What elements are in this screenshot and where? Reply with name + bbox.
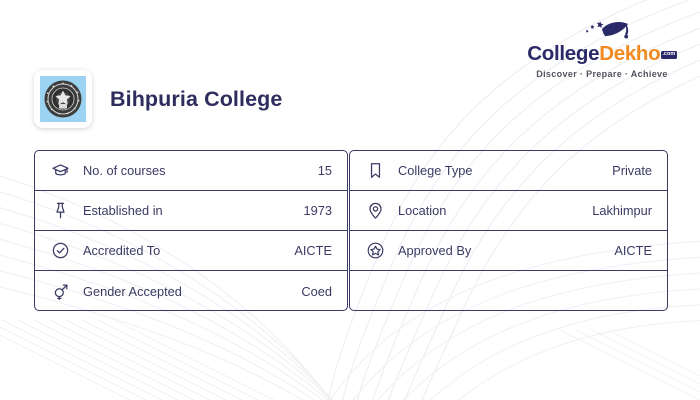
college-header: Bihpuria College (34, 70, 282, 128)
collegedekho-brand-logo[interactable]: CollegeDekho.com Discover · Prepare · Ac… (522, 22, 682, 79)
graduation-cap-icon (49, 160, 71, 182)
graduation-cap-stars-icon (574, 18, 634, 44)
brand-name-part1: College (527, 42, 599, 65)
fact-label: College Type (398, 163, 472, 178)
fact-value: Lakhimpur (592, 203, 652, 218)
gender-icon (49, 280, 71, 302)
pin-icon (49, 200, 71, 222)
fact-label: No. of courses (83, 163, 166, 178)
college-seal-logo-icon (43, 79, 83, 119)
facts-table-right: College Type Private Location Lakhimpur … (349, 150, 668, 311)
brand-dotcom-badge: .com (661, 51, 677, 59)
table-row[interactable]: Accredited To AICTE (35, 231, 347, 271)
table-row[interactable]: College Type Private (350, 151, 667, 191)
table-row[interactable]: Gender Accepted Coed (35, 271, 347, 311)
fact-value: 15 (318, 163, 332, 178)
college-info-card: Bihpuria College CollegeDekho.com Discov… (0, 0, 700, 400)
award-icon (364, 240, 386, 262)
fact-value: Private (612, 163, 652, 178)
fact-label: Location (398, 203, 446, 218)
fact-value: 1973 (304, 203, 332, 218)
fact-value: Coed (301, 284, 332, 299)
college-logo-background (40, 76, 86, 122)
fact-value: AICTE (614, 243, 652, 258)
table-row[interactable]: Location Lakhimpur (350, 191, 667, 231)
table-row[interactable]: No. of courses 15 (35, 151, 347, 191)
table-row[interactable]: Established in 1973 (35, 191, 347, 231)
fact-label: Approved By (398, 243, 471, 258)
fact-value: AICTE (294, 243, 332, 258)
fact-label: Gender Accepted (83, 284, 182, 299)
table-row[interactable]: Approved By AICTE (350, 231, 667, 271)
college-logo-card (34, 70, 92, 128)
fact-label: Established in (83, 203, 163, 218)
bookmark-icon (364, 160, 386, 182)
brand-wordmark: CollegeDekho.com (522, 44, 682, 65)
map-pin-icon (364, 200, 386, 222)
check-circle-icon (49, 240, 71, 262)
brand-name-part2: Dekho (599, 42, 660, 65)
page-title: Bihpuria College (110, 87, 282, 112)
brand-tagline: Discover · Prepare · Achieve (522, 69, 682, 79)
fact-label: Accredited To (83, 243, 160, 258)
facts-table-left: No. of courses 15 Established in 1973 (34, 150, 348, 311)
